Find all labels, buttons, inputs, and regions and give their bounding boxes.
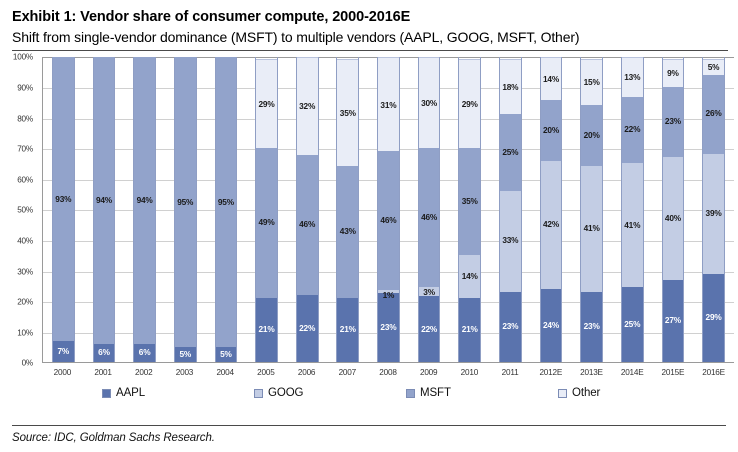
legend-swatch-icon <box>558 389 567 398</box>
exhibit-chart-card: Exhibit 1: Vendor share of consumer comp… <box>0 0 738 452</box>
bar-segment-label: 22% <box>297 324 318 332</box>
bar-segment-label: 20% <box>541 126 562 134</box>
legend-item-msft[interactable]: MSFT <box>388 387 540 399</box>
x-axis-tick: 2012E <box>530 364 571 377</box>
bar-segment-label: 23% <box>500 322 521 330</box>
bar-segment-label: 95% <box>216 198 237 206</box>
bar-segment-label: 95% <box>175 198 196 206</box>
stacked-bar[interactable]: 23%33%25%18% <box>499 57 522 362</box>
x-axis-tick: 2001 <box>83 364 124 377</box>
bar-segment-label: 5% <box>175 350 196 358</box>
stacked-bar[interactable]: 7%93% <box>52 57 75 362</box>
bar-segment-goog[interactable]: 1% <box>378 290 399 293</box>
bar-segment-label: 23% <box>581 322 602 330</box>
header-divider <box>12 50 728 51</box>
y-axis-tick: 70% <box>17 145 33 154</box>
bar-segment-label: 46% <box>419 213 440 221</box>
bar-segment-label: 21% <box>459 325 480 333</box>
bar-segment-label: 22% <box>622 125 643 133</box>
stacked-bar[interactable]: 5%95% <box>174 57 197 362</box>
bar-segment-msft[interactable]: 23% <box>663 87 684 157</box>
bar-column[interactable]: 21%49%29% <box>246 57 287 362</box>
bar-segment-label: 32% <box>297 102 318 110</box>
bar-segment-label: 31% <box>378 101 399 109</box>
bar-segment-label: 33% <box>500 236 521 244</box>
bar-segment-goog[interactable]: 41% <box>622 163 643 287</box>
bar-column[interactable]: 25%41%22%13% <box>612 57 653 362</box>
chart-legend: AAPLGOOGMSFTOther <box>42 387 734 399</box>
legend-swatch-icon <box>406 389 415 398</box>
y-axis: 0%10%20%30%40%50%60%70%80%90%100% <box>0 57 38 363</box>
bar-segment-goog[interactable]: 41% <box>581 166 602 291</box>
x-axis-tick: 2011 <box>490 364 531 377</box>
x-axis-tick: 2007 <box>327 364 368 377</box>
bar-segment-label: 23% <box>378 323 399 331</box>
y-axis-tick: 100% <box>13 53 33 62</box>
bar-segment-label: 13% <box>622 73 643 81</box>
stacked-bar[interactable]: 29%39%26%5% <box>702 57 725 362</box>
plot-area: 7%93%6%94%6%94%5%95%5%95%21%49%29%22%46%… <box>42 57 734 363</box>
bar-segment-msft[interactable]: 49% <box>256 148 277 298</box>
bar-segment-label: 49% <box>256 218 277 226</box>
bar-segment-label: 94% <box>134 196 155 204</box>
bar-segment-msft[interactable]: 20% <box>581 105 602 166</box>
bar-segment-label: 21% <box>337 325 358 333</box>
stacked-bar[interactable]: 5%95% <box>215 57 238 362</box>
x-axis-tick: 2015E <box>653 364 694 377</box>
bar-segment-label: 29% <box>703 313 724 321</box>
bar-segment-aapl[interactable]: 21% <box>459 298 480 362</box>
bar-segment-other[interactable]: 31% <box>378 57 399 151</box>
stacked-bar[interactable]: 21%14%35%29% <box>458 57 481 362</box>
bar-segment-label: 39% <box>703 209 724 217</box>
bar-segment-label: 6% <box>94 348 115 356</box>
bar-segment-other[interactable]: 35% <box>337 59 358 166</box>
bar-segment-aapl[interactable]: 23% <box>581 292 602 362</box>
bar-segment-other[interactable]: 9% <box>663 59 684 87</box>
bar-segment-label: 93% <box>53 195 74 203</box>
bar-segment-other[interactable]: 30% <box>419 57 440 148</box>
stacked-bar[interactable]: 27%40%23%9% <box>662 57 685 362</box>
bar-segment-aapl[interactable]: 5% <box>175 347 196 362</box>
bar-column[interactable]: 7%93% <box>43 57 84 362</box>
bar-segment-aapl[interactable]: 22% <box>419 296 440 362</box>
legend-item-goog[interactable]: GOOG <box>236 387 388 399</box>
x-axis-tick: 2010 <box>449 364 490 377</box>
bar-segment-msft[interactable]: 46% <box>419 148 440 287</box>
bar-segment-msft[interactable]: 35% <box>459 148 480 255</box>
bar-segment-label: 35% <box>337 109 358 117</box>
bar-segment-other[interactable]: 13% <box>622 57 643 96</box>
bar-segment-other[interactable]: 29% <box>459 59 480 148</box>
chart-plot-wrapper: 0%10%20%30%40%50%60%70%80%90%100% 7%93%6… <box>0 57 738 369</box>
bar-column[interactable]: 5%95% <box>206 57 247 362</box>
bar-segment-label: 15% <box>581 78 602 86</box>
bar-segment-aapl[interactable]: 29% <box>703 274 724 363</box>
bar-segment-label: 29% <box>256 100 277 108</box>
bar-segment-label: 27% <box>663 316 684 324</box>
stacked-bar[interactable]: 6%94% <box>93 57 116 362</box>
legend-item-label: GOOG <box>268 387 303 399</box>
x-axis-tick: 2013E <box>571 364 612 377</box>
y-axis-tick: 20% <box>17 298 33 307</box>
bar-segment-label: 25% <box>622 320 643 328</box>
bar-segment-goog[interactable]: 42% <box>541 161 562 289</box>
bar-segment-label: 14% <box>541 75 562 83</box>
legend-swatch-icon <box>102 389 111 398</box>
legend-item-label: MSFT <box>420 387 451 399</box>
bar-segment-aapl[interactable]: 21% <box>256 298 277 362</box>
bar-segment-label: 41% <box>581 224 602 232</box>
bar-segment-label: 9% <box>663 69 684 77</box>
bar-segment-label: 42% <box>541 220 562 228</box>
bar-segment-label: 18% <box>500 83 521 91</box>
bar-segment-aapl[interactable]: 6% <box>134 344 155 362</box>
stacked-bar[interactable]: 22%3%46%30% <box>418 57 441 362</box>
bar-column[interactable]: 21%14%35%29% <box>449 57 490 362</box>
chart-footer: Source: IDC, Goldman Sachs Research. <box>0 425 738 452</box>
bar-segment-label: 21% <box>256 325 277 333</box>
bar-segment-label: 40% <box>663 214 684 222</box>
bar-segment-goog[interactable]: 33% <box>500 191 521 292</box>
bar-segment-msft[interactable]: 26% <box>703 75 724 155</box>
chart-header: Exhibit 1: Vendor share of consumer comp… <box>0 0 738 53</box>
bar-column[interactable]: 5%95% <box>165 57 206 362</box>
bar-segment-label: 30% <box>419 99 440 107</box>
bar-segment-aapl[interactable]: 23% <box>378 293 399 362</box>
bar-column[interactable]: 29%39%26%5% <box>693 57 734 362</box>
bar-segment-other[interactable]: 29% <box>256 59 277 148</box>
x-axis-tick: 2016E <box>693 364 734 377</box>
bar-segment-goog[interactable]: 39% <box>703 154 724 273</box>
bar-segment-label: 23% <box>663 117 684 125</box>
stacked-bar[interactable]: 21%43%35% <box>336 57 359 362</box>
bar-segment-other[interactable]: 14% <box>541 57 562 100</box>
bar-segment-label: 26% <box>703 109 724 117</box>
y-axis-tick: 30% <box>17 267 33 276</box>
bar-segment-other[interactable]: 18% <box>500 59 521 114</box>
bar-series-container: 7%93%6%94%6%94%5%95%5%95%21%49%29%22%46%… <box>43 57 734 362</box>
legend-swatch-icon <box>254 389 263 398</box>
bar-segment-msft[interactable]: 46% <box>378 151 399 290</box>
y-axis-tick: 10% <box>17 328 33 337</box>
bar-segment-label: 20% <box>581 131 602 139</box>
bar-segment-aapl[interactable]: 6% <box>94 344 115 362</box>
bar-segment-aapl[interactable]: 24% <box>541 289 562 362</box>
y-axis-tick: 90% <box>17 83 33 92</box>
bar-segment-label: 3% <box>419 288 440 296</box>
bar-segment-msft[interactable]: 43% <box>337 166 358 298</box>
stacked-bar[interactable]: 21%49%29% <box>255 57 278 362</box>
legend-item-other[interactable]: Other <box>540 387 692 399</box>
bar-segment-aapl[interactable]: 27% <box>663 280 684 363</box>
bar-segment-label: 46% <box>378 216 399 224</box>
x-axis: 2000200120022003200420052006200720082009… <box>42 364 734 377</box>
bar-segment-label: 43% <box>337 227 358 235</box>
y-axis-tick: 60% <box>17 175 33 184</box>
bar-segment-label: 5% <box>703 63 724 71</box>
x-axis-tick: 2005 <box>246 364 287 377</box>
bar-segment-label: 35% <box>459 197 480 205</box>
x-axis-tick: 2014E <box>612 364 653 377</box>
bar-segment-label: 7% <box>53 347 74 355</box>
bar-column[interactable]: 22%46%32% <box>287 57 328 362</box>
x-axis-tick: 2000 <box>42 364 83 377</box>
stacked-bar[interactable]: 24%42%20%14% <box>540 57 563 362</box>
bar-segment-aapl[interactable]: 23% <box>500 292 521 362</box>
bar-segment-goog[interactable]: 14% <box>459 255 480 298</box>
bar-segment-label: 22% <box>419 325 440 333</box>
bar-segment-msft[interactable]: 95% <box>175 57 196 347</box>
y-axis-tick: 40% <box>17 236 33 245</box>
stacked-bar[interactable]: 23%1%46%31% <box>377 57 400 362</box>
bar-segment-label: 29% <box>459 100 480 108</box>
bar-segment-msft[interactable]: 93% <box>53 57 74 341</box>
bar-segment-label: 5% <box>216 350 237 358</box>
bar-segment-label: 14% <box>459 272 480 280</box>
bar-segment-aapl[interactable]: 7% <box>53 341 74 362</box>
stacked-bar[interactable]: 23%41%20%15% <box>580 57 603 362</box>
bar-segment-other[interactable]: 15% <box>581 59 602 105</box>
bar-segment-aapl[interactable]: 25% <box>622 287 643 363</box>
x-axis-tick: 2002 <box>123 364 164 377</box>
bar-column[interactable]: 6%94% <box>124 57 165 362</box>
legend-item-label: Other <box>572 387 600 399</box>
bar-column[interactable]: 22%3%46%30% <box>409 57 450 362</box>
x-axis-tick: 2004 <box>205 364 246 377</box>
bar-segment-label: 24% <box>541 321 562 329</box>
bar-segment-label: 1% <box>378 291 399 299</box>
bar-column[interactable]: 23%33%25%18% <box>490 57 531 362</box>
bar-column[interactable]: 21%43%35% <box>327 57 368 362</box>
bar-segment-other[interactable]: 5% <box>703 59 724 74</box>
x-axis-tick: 2003 <box>164 364 205 377</box>
bar-segment-aapl[interactable]: 5% <box>216 347 237 362</box>
x-axis-tick: 2009 <box>408 364 449 377</box>
bar-segment-goog[interactable]: 40% <box>663 157 684 279</box>
legend-item-aapl[interactable]: AAPL <box>84 387 236 399</box>
bar-segment-msft[interactable]: 94% <box>94 57 115 344</box>
bar-column[interactable]: 27%40%23%9% <box>653 57 694 362</box>
y-axis-tick: 50% <box>17 206 33 215</box>
y-axis-tick: 0% <box>22 359 33 368</box>
bar-segment-label: 46% <box>297 220 318 228</box>
bar-segment-label: 41% <box>622 221 643 229</box>
stacked-bar[interactable]: 25%41%22%13% <box>621 57 644 362</box>
bar-segment-msft[interactable]: 95% <box>216 57 237 347</box>
bar-segment-msft[interactable]: 46% <box>297 155 318 295</box>
bar-segment-label: 6% <box>134 348 155 356</box>
bar-segment-msft[interactable]: 94% <box>134 57 155 344</box>
y-axis-tick: 80% <box>17 114 33 123</box>
bar-column[interactable]: 6%94% <box>84 57 125 362</box>
legend-item-label: AAPL <box>116 387 145 399</box>
bar-segment-label: 25% <box>500 148 521 156</box>
source-note: Source: IDC, Goldman Sachs Research. <box>12 432 726 444</box>
page-title: Exhibit 1: Vendor share of consumer comp… <box>12 8 728 26</box>
bar-segment-other[interactable]: 32% <box>297 57 318 155</box>
bar-segment-aapl[interactable]: 21% <box>337 298 358 362</box>
footer-divider <box>12 425 726 426</box>
bar-column[interactable]: 23%41%20%15% <box>571 57 612 362</box>
bar-segment-msft[interactable]: 20% <box>541 100 562 161</box>
bar-column[interactable]: 24%42%20%14% <box>531 57 572 362</box>
bar-segment-msft[interactable]: 22% <box>622 97 643 163</box>
x-axis-tick: 2008 <box>368 364 409 377</box>
bar-segment-goog[interactable]: 3% <box>419 287 440 296</box>
stacked-bar[interactable]: 22%46%32% <box>296 57 319 362</box>
bar-segment-aapl[interactable]: 22% <box>297 295 318 362</box>
bar-column[interactable]: 23%1%46%31% <box>368 57 409 362</box>
stacked-bar[interactable]: 6%94% <box>133 57 156 362</box>
x-axis-tick: 2006 <box>286 364 327 377</box>
page-subtitle: Shift from single-vendor dominance (MSFT… <box>12 28 728 46</box>
bar-segment-msft[interactable]: 25% <box>500 114 521 191</box>
bar-segment-label: 94% <box>94 196 115 204</box>
